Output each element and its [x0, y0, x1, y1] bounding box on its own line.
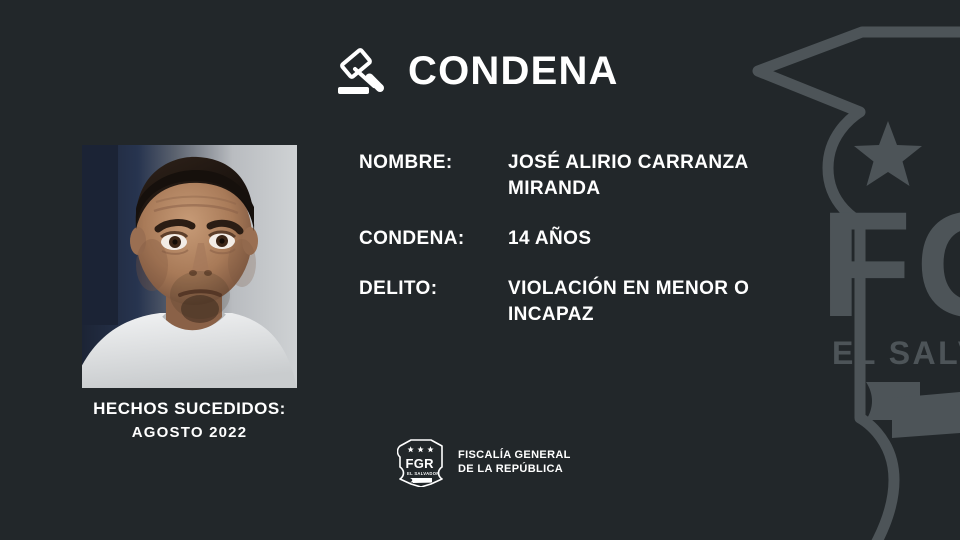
footer-institution-name: FISCALÍA GENERAL DE LA REPÚBLICA: [458, 448, 571, 476]
fgr-shield-logo: FGR EL SALVADOR: [397, 437, 445, 487]
label-delito: DELITO:: [359, 276, 508, 302]
detail-row-nombre: NOMBRE: JOSÉ ALIRIO CARRANZA MIRANDA: [359, 150, 829, 202]
value-condena: 14 AÑOS: [508, 226, 591, 252]
footer-logo-ribbon: [410, 478, 432, 483]
photo-caption: HECHOS SUCEDIDOS: AGOSTO 2022: [22, 398, 357, 444]
detail-row-condena: CONDENA: 14 AÑOS: [359, 226, 829, 252]
value-delito: VIOLACIÓN EN MENOR O INCAPAZ: [508, 276, 808, 328]
watermark-ribbon: [866, 374, 960, 438]
case-details: NOMBRE: JOSÉ ALIRIO CARRANZA MIRANDA CON…: [359, 150, 829, 328]
gavel-icon: [334, 44, 390, 98]
label-condena: CONDENA:: [359, 226, 508, 252]
caption-date: AGOSTO 2022: [22, 422, 357, 444]
footer-line-2: DE LA REPÚBLICA: [458, 463, 563, 475]
value-nombre: JOSÉ ALIRIO CARRANZA MIRANDA: [508, 150, 808, 202]
detail-row-delito: DELITO: VIOLACIÓN EN MENOR O INCAPAZ: [359, 276, 829, 328]
footer-brand: FGR EL SALVADOR FISCALÍA GENERAL DE LA R…: [397, 437, 571, 487]
suspect-photo: [82, 145, 297, 388]
footer-line-1: FISCALÍA GENERAL: [458, 449, 571, 461]
footer-logo-el-salvador-text: EL SALVADOR: [407, 471, 440, 476]
watermark-fgr-text: FGR: [820, 180, 960, 348]
footer-logo-fgr-text: FGR: [406, 456, 435, 471]
caption-title: HECHOS SUCEDIDOS:: [22, 398, 357, 420]
header: CONDENA: [334, 44, 619, 98]
poster-canvas: FGR EL SALVADOR . 19 CONDENA: [0, 0, 960, 540]
watermark-el-salvador-text: EL SALVADOR: [832, 335, 960, 371]
page-title: CONDENA: [408, 51, 619, 91]
label-nombre: NOMBRE:: [359, 150, 508, 176]
